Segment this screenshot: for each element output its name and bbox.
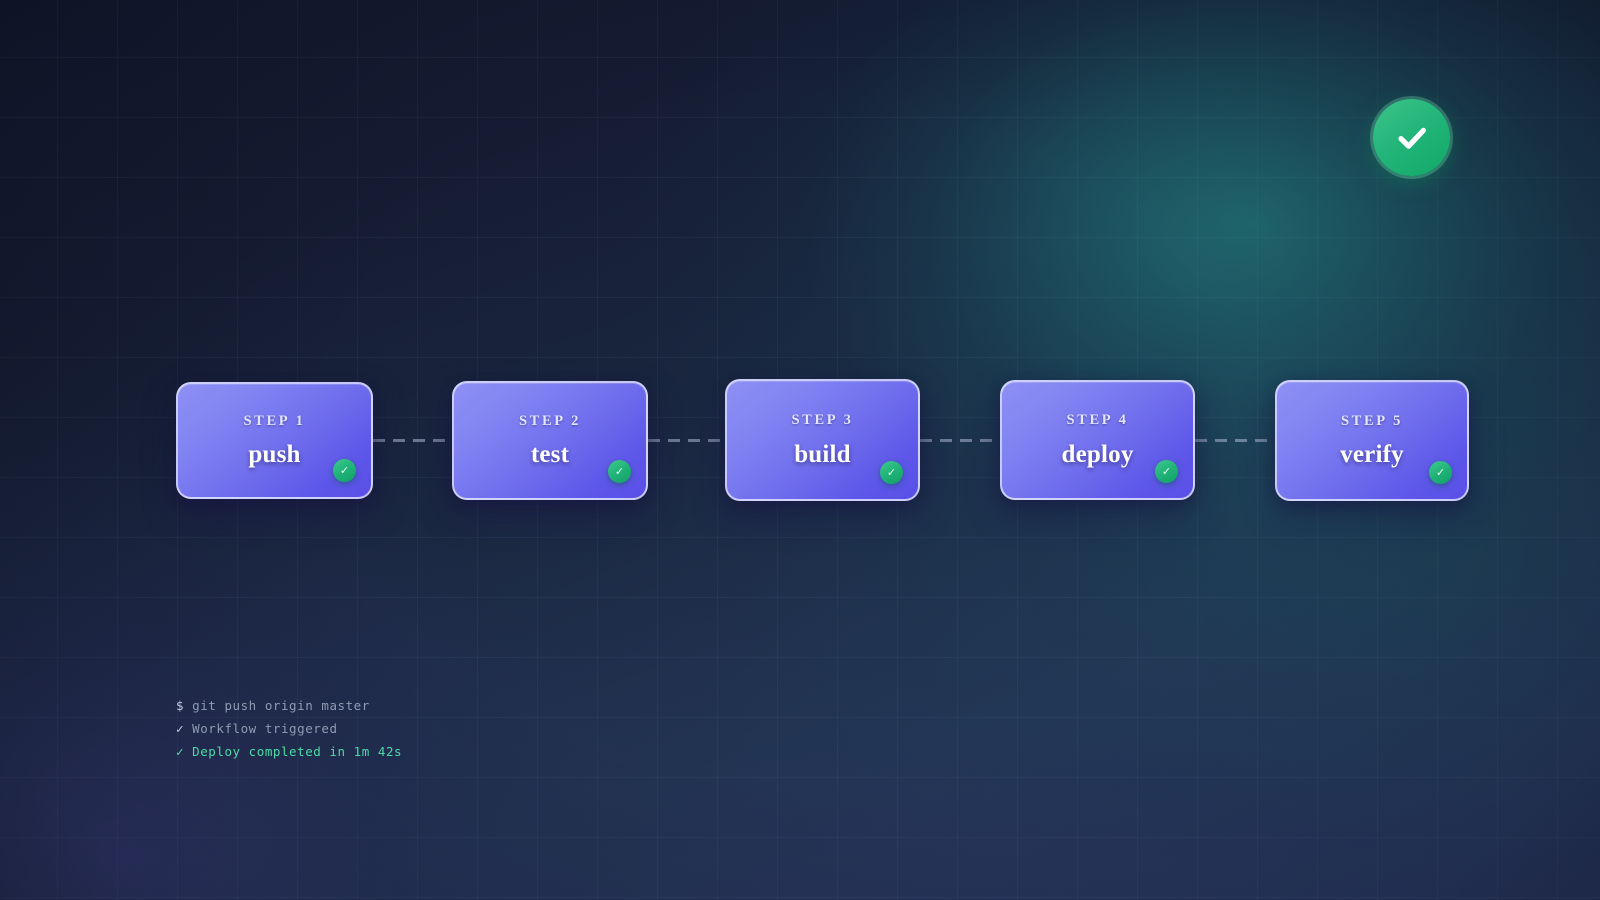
console-line-text: Deploy completed in 1m 42s <box>184 744 402 759</box>
step-kicker: STEP 5 <box>1341 414 1403 429</box>
canvas: STEP 1push✓STEP 2test✓STEP 3build✓STEP 4… <box>0 0 1600 900</box>
step-card-verify[interactable]: STEP 5verify✓ <box>1275 380 1469 501</box>
step-card-push[interactable]: STEP 1push✓ <box>176 382 373 499</box>
step-kicker: STEP 4 <box>1067 413 1129 428</box>
check-icon: ✓ <box>176 744 184 759</box>
pipeline-connector-2 <box>648 439 725 442</box>
step-status-check-icon: ✓ <box>333 459 356 482</box>
step-status-check-icon: ✓ <box>608 460 631 483</box>
step-kicker: STEP 1 <box>244 414 306 429</box>
console-line-text: git push origin master <box>184 698 370 713</box>
step-title: build <box>794 442 851 467</box>
pipeline-status-badge <box>1373 99 1450 176</box>
pipeline-connector-1 <box>373 439 452 442</box>
prompt-icon: $ <box>176 698 184 713</box>
pipeline-connector-3 <box>920 439 1000 442</box>
step-card-build[interactable]: STEP 3build✓ <box>725 379 920 501</box>
step-status-check-icon: ✓ <box>1155 460 1178 483</box>
step-status-check-icon: ✓ <box>1429 461 1452 484</box>
step-title: test <box>531 442 569 467</box>
console-line-2: ✓ Workflow triggered <box>176 717 402 740</box>
step-title: push <box>248 442 300 467</box>
step-title: verify <box>1340 442 1404 467</box>
step-kicker: STEP 3 <box>792 413 854 428</box>
console-line-text: Workflow triggered <box>184 721 337 736</box>
step-card-deploy[interactable]: STEP 4deploy✓ <box>1000 380 1195 500</box>
console-line-3: ✓ Deploy completed in 1m 42s <box>176 740 402 763</box>
step-kicker: STEP 2 <box>519 414 581 429</box>
check-icon <box>1390 116 1434 160</box>
check-icon: ✓ <box>176 721 184 736</box>
console-line-1: $ git push origin master <box>176 694 402 717</box>
step-card-test[interactable]: STEP 2test✓ <box>452 381 648 500</box>
step-status-check-icon: ✓ <box>880 461 903 484</box>
step-title: deploy <box>1061 442 1133 467</box>
pipeline-connector-4 <box>1195 439 1275 442</box>
console-output: $ git push origin master✓ Workflow trigg… <box>176 694 402 763</box>
